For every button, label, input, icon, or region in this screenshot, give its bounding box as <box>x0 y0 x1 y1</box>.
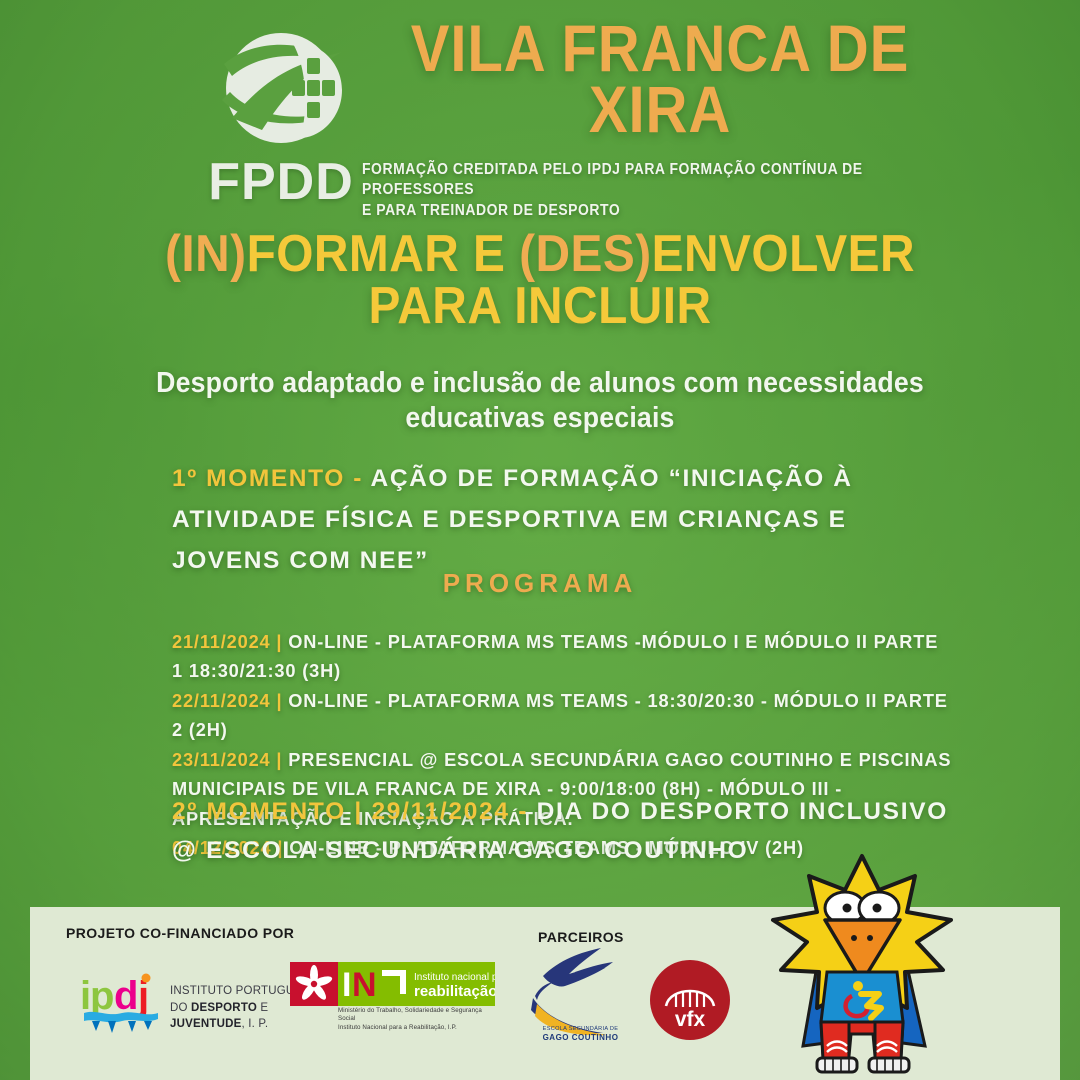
schedule-separator: | <box>271 750 289 770</box>
schedule-separator: | <box>276 691 288 711</box>
momento-1-block: 1º MOMENTO - AÇÃO DE FORMAÇÃO “INICIAÇÃO… <box>172 458 942 581</box>
accreditation-note: FORMAÇÃO CREDITADA PELO IPDJ PARA FORMAÇ… <box>362 160 902 221</box>
inr-red-block <box>290 962 338 1006</box>
slogan-part2-soft: (DES) <box>519 225 652 283</box>
schedule-date: 21/11/2024 <box>172 632 271 652</box>
momento-2-label: 2º MOMENTO | 29/11/2024 <box>172 798 510 825</box>
programa-heading: PROGRAMA <box>40 568 1040 599</box>
city-title-line2: XIRA <box>396 79 924 140</box>
city-title-line1: VILA FRANCA DE <box>396 18 924 79</box>
inr-ministry-text: Ministério do Trabalho, Solidariedade e … <box>338 1007 498 1032</box>
poster: FPDD VILA FRANCA DE XIRA FORMAÇÃO CREDIT… <box>0 0 1080 1080</box>
schedule-separator: | <box>271 632 289 652</box>
schedule-detail: ON-LINE - PLATAFORMA MS TEAMS - 18:30/20… <box>172 691 948 740</box>
ipdj-e: E <box>257 1002 268 1014</box>
svg-text:d: d <box>114 974 138 1018</box>
schedule-date: 23/11/2024 <box>172 750 271 770</box>
inr-logo: I N Instituto nacional para a reabilitaç… <box>290 962 495 1024</box>
momento-2-dash: - <box>510 798 537 825</box>
ipdj-mark-icon: i p d j <box>78 969 166 1035</box>
slogan-part2-main: ENVOLVER <box>652 225 915 283</box>
schedule-row: 22/11/2024 | ON-LINE - PLATAFORMA MS TEA… <box>172 687 952 746</box>
svg-text:vfx: vfx <box>675 1008 706 1031</box>
svg-text:I: I <box>342 966 351 1004</box>
fpdd-shield-emblem <box>196 18 366 158</box>
slogan-line1: (IN)FORMAR E (DES)ENVOLVER <box>80 228 1000 280</box>
escola-caption-line2: GAGO COUTINHO <box>518 1033 643 1043</box>
vfx-bridge-icon: vfx <box>650 960 730 1040</box>
cofinanced-label: PROJETO CO-FINANCIADO POR <box>66 925 294 941</box>
fpdd-logo: FPDD <box>196 18 366 208</box>
svg-text:N: N <box>352 966 377 1004</box>
mascot-illustration-icon <box>755 850 970 1080</box>
accreditation-line1: FORMAÇÃO CREDITADA PELO IPDJ PARA FORMAÇ… <box>362 160 902 201</box>
inr-sub1: Ministério do Trabalho, Solidariedade e … <box>338 1007 498 1024</box>
ipdj-desporto: DESPORTO <box>191 1002 257 1014</box>
ipdj-juventude: JUVENTUDE <box>170 1018 241 1030</box>
sun-bird-mascot <box>755 850 970 1080</box>
accreditation-line2: E PARA TREINADOR DE DESPORTO <box>362 201 902 221</box>
svg-text:p: p <box>90 974 114 1018</box>
ipdj-do: DO <box>170 1002 191 1014</box>
vfx-logo: vfx <box>650 960 730 1040</box>
svg-text:Instituto nacional para a: Instituto nacional para a <box>414 972 495 983</box>
slogan: (IN)FORMAR E (DES)ENVOLVER PARA INCLUIR <box>80 228 1000 332</box>
svg-text:reabilitação: reabilitação <box>414 983 495 1000</box>
schedule-row: 21/11/2024 | ON-LINE - PLATAFORMA MS TEA… <box>172 628 952 687</box>
slogan-part1-main: FORMAR E <box>247 225 520 283</box>
inr-wordmark-icon: I N Instituto nacional para a reabilitaç… <box>338 962 495 1006</box>
slogan-part1-soft: (IN) <box>165 225 247 283</box>
escola-caption: ESCOLA SECUNDÁRIA DE GAGO COUTINHO <box>518 1026 643 1043</box>
subtitle: Desporto adaptado e inclusão de alunos c… <box>126 366 954 437</box>
ipdj-ip: , I. P. <box>241 1018 268 1030</box>
page-title: VILA FRANCA DE XIRA <box>396 18 924 139</box>
schedule-date: 22/11/2024 <box>172 691 276 711</box>
momento-1-label: 1º MOMENTO <box>172 465 345 492</box>
inr-sub2: Instituto Nacional para a Reabilitação, … <box>338 1024 498 1032</box>
inr-pinwheel-icon <box>290 962 338 1006</box>
momento-1-dash: - <box>345 465 371 492</box>
escola-caption-line1: ESCOLA SECUNDÁRIA DE <box>518 1026 643 1033</box>
inr-green-block: I N Instituto nacional para a reabilitaç… <box>338 962 495 1006</box>
slogan-line2: PARA INCLUIR <box>80 280 1000 332</box>
fpdd-wordmark: FPDD <box>196 152 366 212</box>
